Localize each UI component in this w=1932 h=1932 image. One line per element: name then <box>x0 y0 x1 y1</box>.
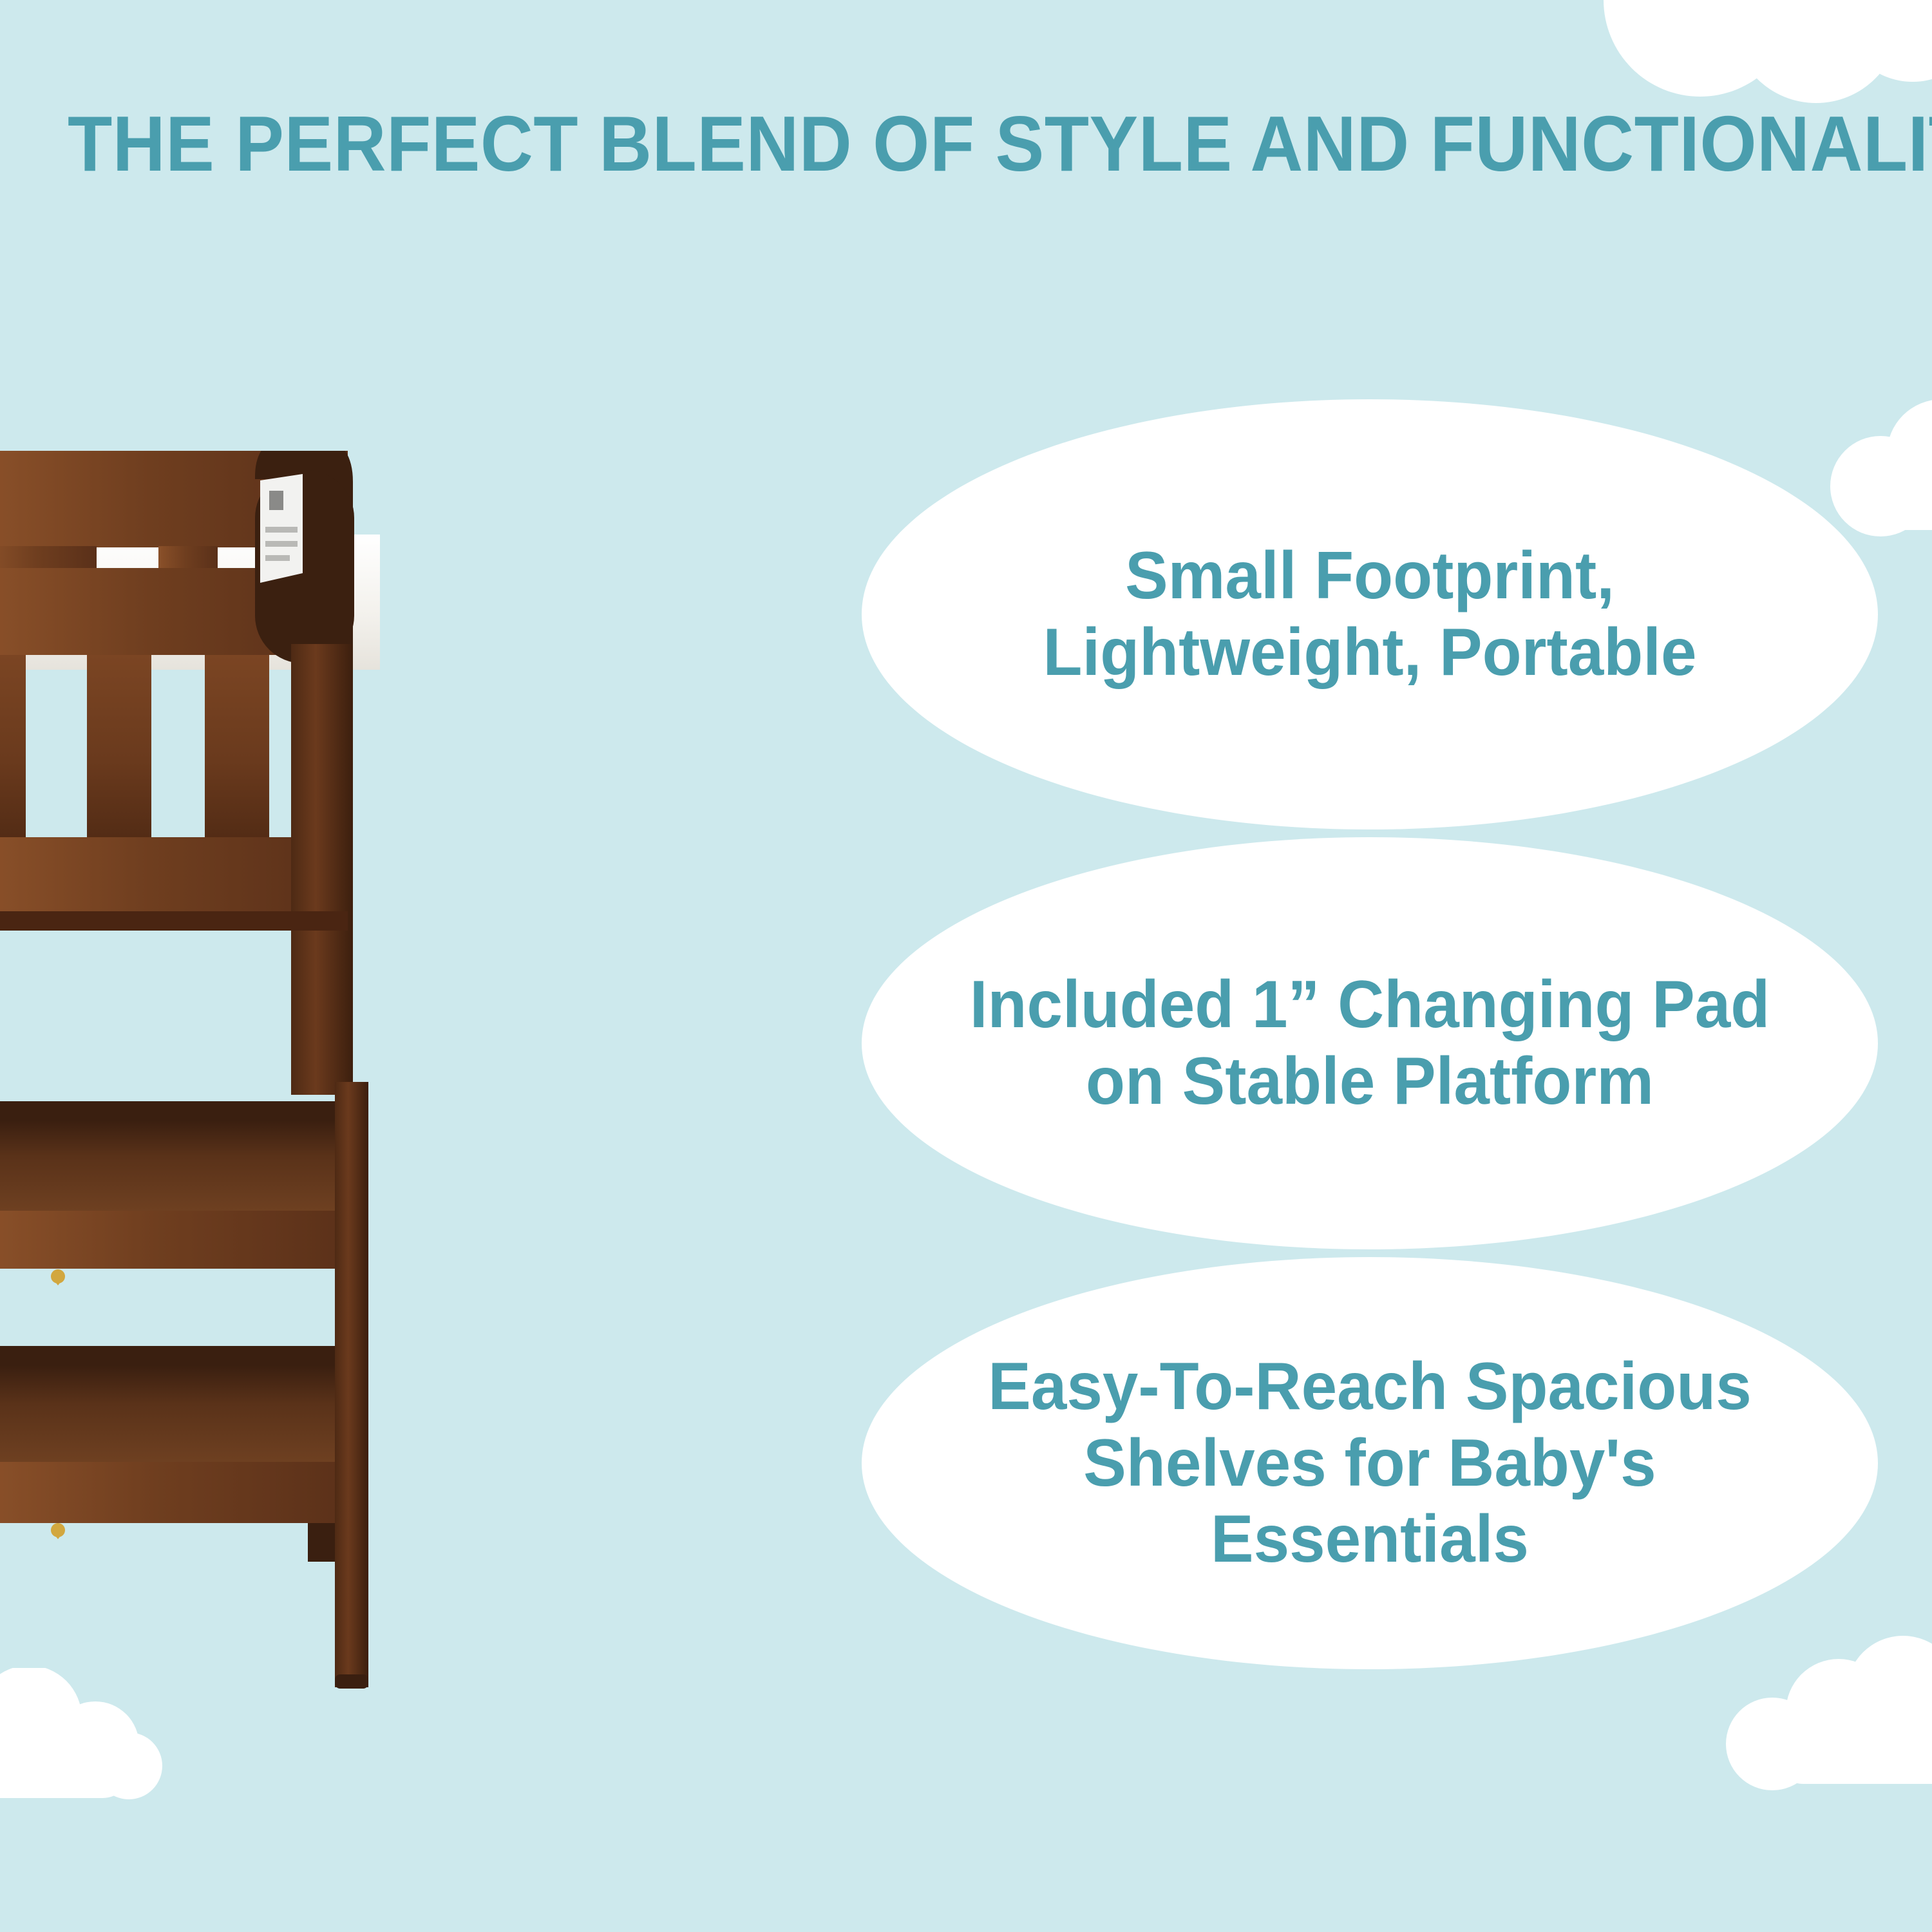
shelf-upper <box>0 1101 361 1285</box>
feature-callout-3: Easy-To-Reach Spacious Shelves for Baby'… <box>862 1257 1878 1669</box>
end-post <box>255 451 354 1095</box>
cloud-right-upper-icon <box>1829 399 1932 547</box>
feature-text-1: Small Footprint, Lightweight, Portable <box>882 538 1858 690</box>
feature-callout-1: Small Footprint, Lightweight, Portable <box>862 399 1878 829</box>
page-title: THE PERFECT BLEND OF STYLE AND FUNCTIONA… <box>68 104 1864 183</box>
product-image-changing-table <box>0 451 760 1707</box>
leg-foot <box>335 1674 368 1689</box>
front-leg <box>335 1082 368 1687</box>
foot-block <box>308 1523 335 1562</box>
shelf-lower <box>0 1346 361 1562</box>
cloud-bottom-right-icon <box>1726 1636 1932 1803</box>
feature-text-2: Included 1” Changing Pad on Stable Platf… <box>882 967 1858 1119</box>
feature-text-3: Easy-To-Reach Spacious Shelves for Baby'… <box>882 1349 1858 1578</box>
feature-callout-2: Included 1” Changing Pad on Stable Platf… <box>862 837 1878 1249</box>
platform-edge <box>0 911 348 931</box>
changing-table-illustration <box>0 451 760 1707</box>
infographic-canvas: THE PERFECT BLEND OF STYLE AND FUNCTIONA… <box>0 0 1932 1932</box>
cloud-top-right-icon <box>1604 0 1932 116</box>
